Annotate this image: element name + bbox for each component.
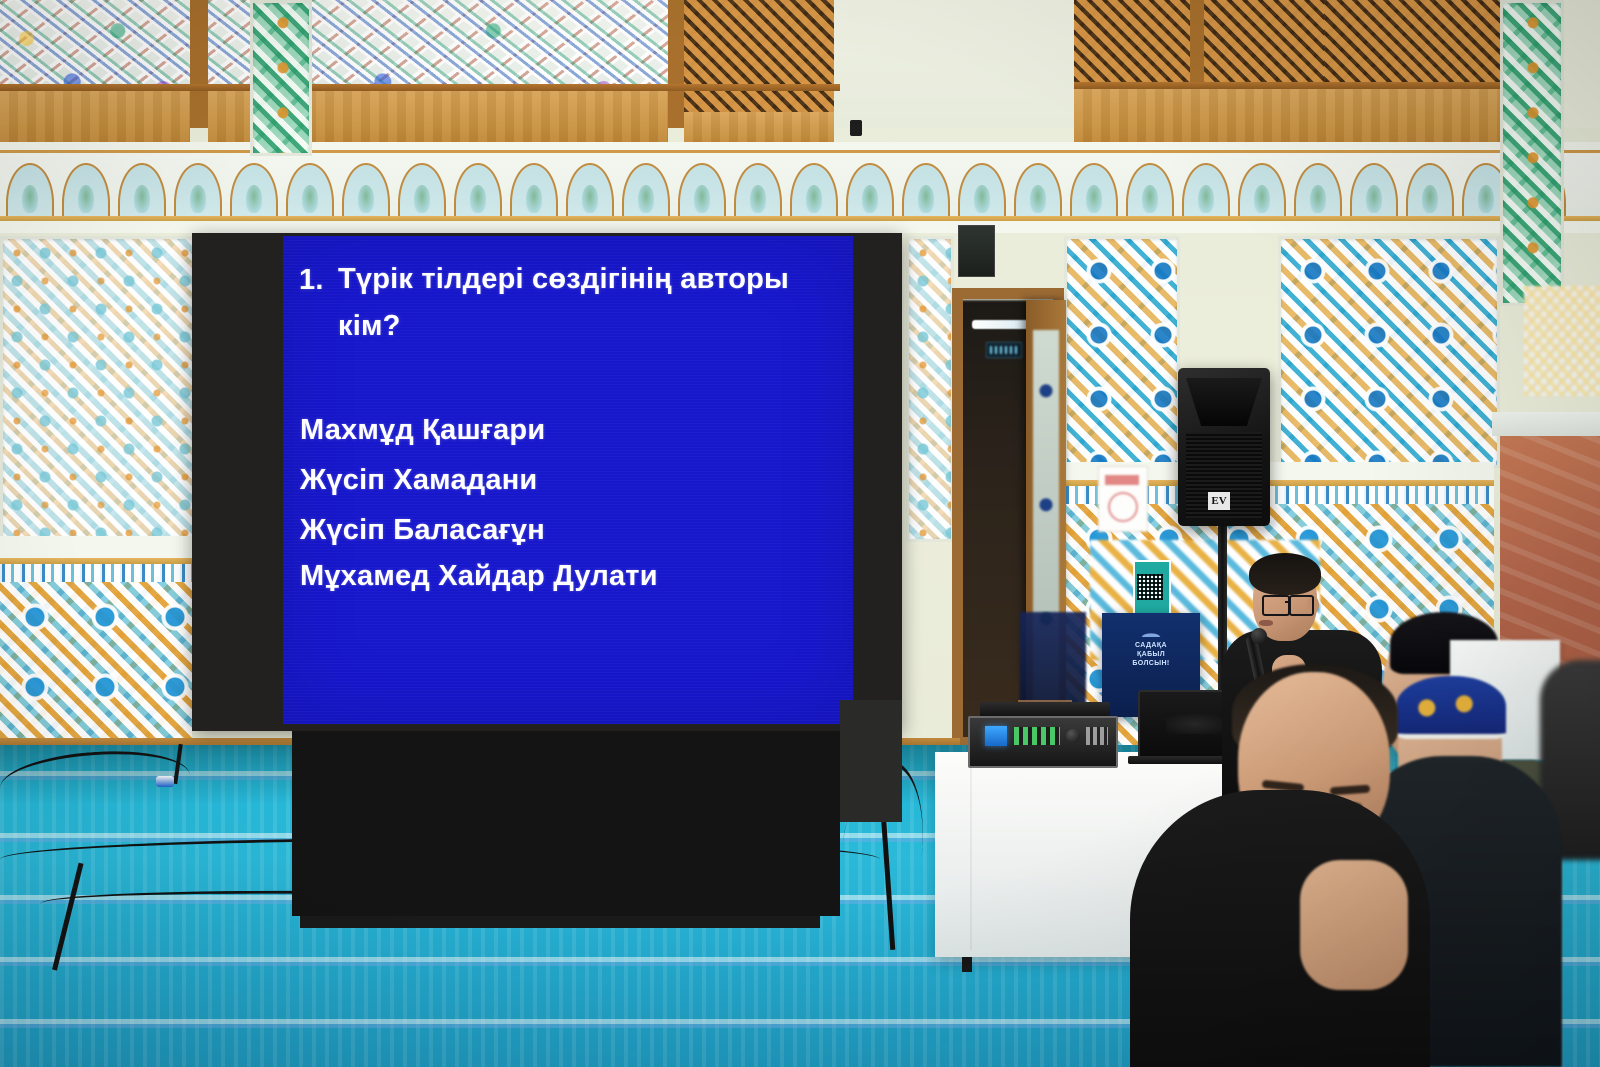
processor-lcd-screen	[985, 726, 1007, 746]
chandelier-glass	[1524, 286, 1600, 396]
wall-mounted-speaker	[958, 225, 995, 277]
rack-lid	[980, 702, 1110, 717]
led-screen-skirt	[292, 731, 840, 916]
window-mullion	[668, 0, 684, 128]
ornament-pilaster	[250, 0, 312, 156]
qr-code-icon[interactable]	[1137, 574, 1163, 600]
poster-seal	[1108, 492, 1138, 522]
microphone-head	[1251, 628, 1267, 644]
donation-text-line3: БОЛСЫН!	[1110, 659, 1192, 668]
slide-option-3: Мұхамед Хайдар Дулати	[300, 560, 658, 593]
column-capital	[1492, 412, 1600, 436]
screenshot-root: САДАҚА ҚАБЫЛ БОЛСЫН! EV 1. Түрік тілдері…	[0, 0, 1600, 1067]
donation-box-ornament	[1136, 631, 1166, 637]
presenter-glasses-bridge	[1285, 601, 1291, 603]
tablecloth-fold	[970, 760, 972, 950]
slide-option-2: Жүсіп Баласағұн	[300, 514, 545, 547]
ceiling-bracket	[850, 120, 862, 136]
donation-box-secondary	[1020, 612, 1086, 708]
presenter-glasses-right-lens	[1289, 595, 1314, 616]
presenter-mouth	[1259, 620, 1273, 626]
slide-question-line2: кім?	[338, 310, 401, 343]
processor-keypad[interactable]	[1086, 727, 1108, 745]
donation-box-text: САДАҚА ҚАБЫЛ БОЛСЫН!	[1110, 641, 1192, 668]
laptop-lid-badge	[1166, 714, 1224, 734]
power-plug	[156, 776, 174, 787]
wood-panel	[1074, 86, 1504, 150]
processor-knob[interactable]	[1066, 729, 1080, 743]
wall-tile-panel-left	[0, 236, 196, 542]
wave-border-strip	[0, 564, 192, 582]
led-screen-side-panel	[840, 700, 902, 822]
plaster-pier	[834, 0, 1074, 128]
slide-option-1: Жүсіп Хамадани	[300, 464, 537, 497]
wood-panel	[0, 88, 190, 150]
presenter-glasses-left-lens	[1262, 595, 1290, 616]
foreground-attendee-hand	[1300, 860, 1408, 990]
window-mullion	[190, 0, 208, 128]
led-screen-base	[300, 916, 820, 928]
slide-question-number: 1.	[299, 264, 324, 297]
donation-text-line2: ҚАБЫЛ	[1110, 650, 1192, 659]
wall-tile-panel-right	[1064, 236, 1180, 468]
wall-tile-strip	[906, 236, 954, 542]
wood-lattice-panel	[684, 0, 834, 128]
wall-tile-panel-right2	[1278, 236, 1500, 468]
slide-question-line1: Түрік тілдері сөздігінің авторы	[338, 263, 789, 296]
wall-trim	[0, 221, 1600, 233]
wood-rail	[0, 84, 840, 91]
ev-logo-text: EV	[1208, 492, 1230, 510]
ev-brand-logo: EV	[1208, 492, 1230, 510]
wall-tile-panel-lower-left	[0, 582, 192, 738]
panel-divider	[0, 536, 192, 558]
slide-option-0: Махмұд Қашғари	[300, 414, 545, 447]
processor-button-panel[interactable]	[1014, 727, 1060, 745]
wood-rail	[1074, 82, 1504, 89]
embroidered-doppa-cap	[1396, 676, 1506, 739]
donation-text-line1: САДАҚА	[1110, 641, 1192, 650]
ornament-pilaster-right	[1500, 0, 1564, 306]
arch-frieze-band	[0, 150, 1600, 222]
presenter-hair	[1249, 553, 1321, 595]
